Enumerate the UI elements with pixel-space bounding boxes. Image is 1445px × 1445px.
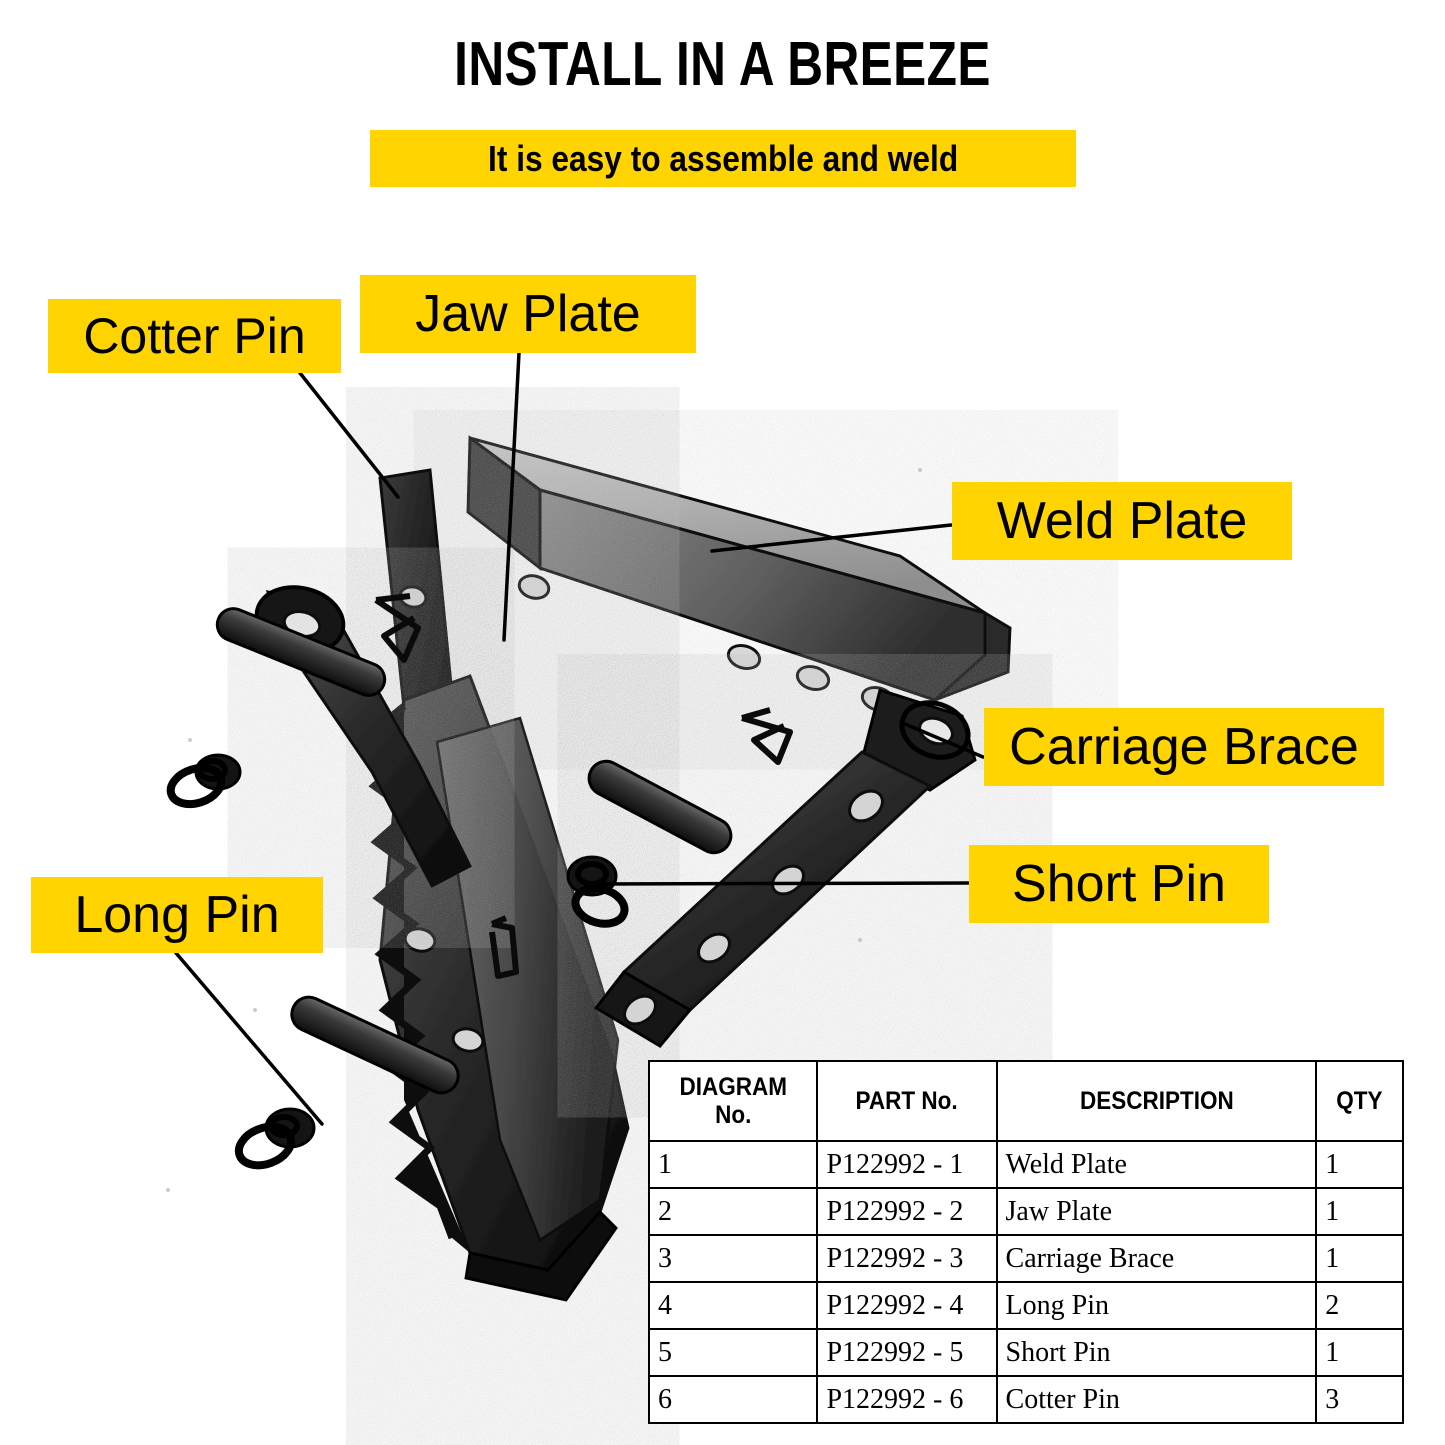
callout-long-pin: Long Pin bbox=[31, 877, 323, 953]
header-part-no-text: PART No. bbox=[835, 1087, 980, 1115]
cell-diagram-no: 5 bbox=[649, 1329, 817, 1376]
callout-short-pin: Short Pin bbox=[969, 845, 1269, 923]
parts-table-body: 1 P122992 - 1 Weld Plate 1 2 P122992 - 2… bbox=[649, 1141, 1403, 1423]
table-row: 3 P122992 - 3 Carriage Brace 1 bbox=[649, 1235, 1403, 1282]
callout-jaw-plate-label: Jaw Plate bbox=[415, 288, 640, 340]
cell-qty: 3 bbox=[1316, 1376, 1403, 1423]
cell-diagram-no: 2 bbox=[649, 1188, 817, 1235]
callout-long-pin-label: Long Pin bbox=[74, 889, 279, 941]
cell-qty: 2 bbox=[1316, 1282, 1403, 1329]
cell-part-no: P122992 - 2 bbox=[817, 1188, 996, 1235]
cell-qty: 1 bbox=[1316, 1141, 1403, 1188]
cell-diagram-no: 6 bbox=[649, 1376, 817, 1423]
product-infographic: INSTALL IN A BREEZE It is easy to assemb… bbox=[0, 0, 1445, 1445]
cell-part-no: P122992 - 6 bbox=[817, 1376, 996, 1423]
cell-description: Carriage Brace bbox=[997, 1235, 1317, 1282]
callout-weld-plate-label: Weld Plate bbox=[997, 495, 1248, 547]
callout-short-pin-label: Short Pin bbox=[1012, 858, 1226, 910]
cell-description: Cotter Pin bbox=[997, 1376, 1317, 1423]
cell-description: Weld Plate bbox=[997, 1141, 1317, 1188]
table-row: 5 P122992 - 5 Short Pin 1 bbox=[649, 1329, 1403, 1376]
table-row: 6 P122992 - 6 Cotter Pin 3 bbox=[649, 1376, 1403, 1423]
header-qty-text: QTY bbox=[1329, 1087, 1391, 1115]
callout-cotter-pin: Cotter Pin bbox=[48, 299, 341, 373]
cell-qty: 1 bbox=[1316, 1329, 1403, 1376]
table-row: 1 P122992 - 1 Weld Plate 1 bbox=[649, 1141, 1403, 1188]
callout-cotter-pin-label: Cotter Pin bbox=[83, 311, 305, 361]
header-description: DESCRIPTION bbox=[997, 1061, 1317, 1141]
cell-description: Long Pin bbox=[997, 1282, 1317, 1329]
callout-weld-plate: Weld Plate bbox=[952, 482, 1292, 560]
callout-jaw-plate: Jaw Plate bbox=[360, 275, 696, 353]
weld-plate-part bbox=[468, 438, 1010, 714]
cell-diagram-no: 4 bbox=[649, 1282, 817, 1329]
table-row: 4 P122992 - 4 Long Pin 2 bbox=[649, 1282, 1403, 1329]
cell-part-no: P122992 - 5 bbox=[817, 1329, 996, 1376]
cell-description: Jaw Plate bbox=[997, 1188, 1317, 1235]
cell-diagram-no: 3 bbox=[649, 1235, 817, 1282]
header-diagram-no-line2: No. bbox=[666, 1101, 801, 1129]
header-diagram-no: DIAGRAM No. bbox=[649, 1061, 817, 1141]
table-header-row: DIAGRAM No. PART No. DESCRIPTION QTY bbox=[649, 1061, 1403, 1141]
parts-list-table: DIAGRAM No. PART No. DESCRIPTION QTY 1 P… bbox=[648, 1060, 1404, 1424]
cell-description: Short Pin bbox=[997, 1329, 1317, 1376]
header-description-text: DESCRIPTION bbox=[1021, 1087, 1293, 1115]
cell-part-no: P122992 - 4 bbox=[817, 1282, 996, 1329]
cell-part-no: P122992 - 3 bbox=[817, 1235, 996, 1282]
callout-carriage-brace-label: Carriage Brace bbox=[1009, 721, 1359, 773]
table-row: 2 P122992 - 2 Jaw Plate 1 bbox=[649, 1188, 1403, 1235]
cotter-pin-b bbox=[742, 710, 790, 762]
header-part-no: PART No. bbox=[817, 1061, 996, 1141]
header-qty: QTY bbox=[1316, 1061, 1403, 1141]
callout-carriage-brace: Carriage Brace bbox=[984, 708, 1384, 786]
cell-diagram-no: 1 bbox=[649, 1141, 817, 1188]
cell-qty: 1 bbox=[1316, 1235, 1403, 1282]
cell-qty: 1 bbox=[1316, 1188, 1403, 1235]
header-diagram-no-line1: DIAGRAM bbox=[666, 1073, 801, 1101]
cell-part-no: P122992 - 1 bbox=[817, 1141, 996, 1188]
